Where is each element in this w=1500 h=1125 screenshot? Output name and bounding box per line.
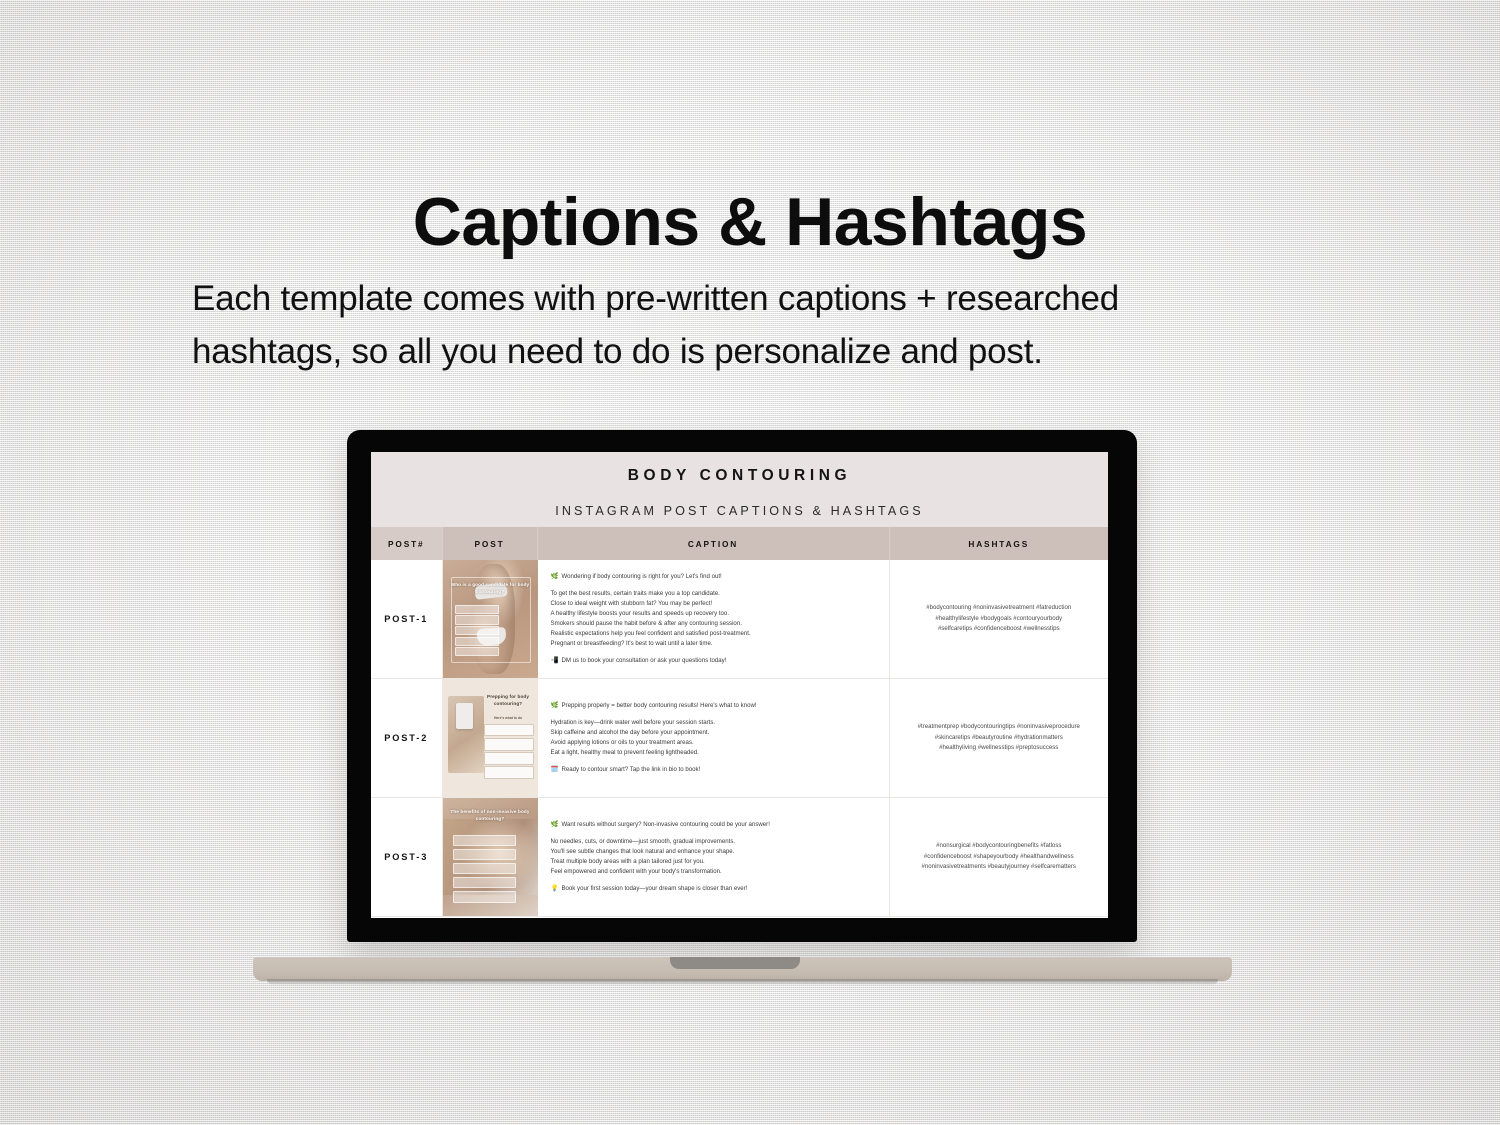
thumbnail-overlay-title: Prepping for body contouring? bbox=[482, 694, 533, 708]
caption-body: To get the best results, certain traits … bbox=[551, 589, 879, 648]
leaf-icon: 🌿 bbox=[551, 820, 559, 830]
caption-hook-text: Want results without surgery? Non-invasi… bbox=[561, 820, 769, 830]
caption-body-line: Hydration is key—drink water well before… bbox=[551, 718, 879, 728]
caption-body-line: Treat multiple body areas with a plan ta… bbox=[551, 857, 879, 867]
post-thumbnail-image: Who is a good candidate for body contour… bbox=[443, 560, 538, 678]
laptop-mockup: BODY CONTOURING INSTAGRAM POST CAPTIONS … bbox=[0, 0, 1500, 1125]
caption-body-line: Feel empowered and confident with your b… bbox=[551, 867, 879, 877]
laptop-screen: BODY CONTOURING INSTAGRAM POST CAPTIONS … bbox=[371, 452, 1108, 918]
post-number-cell: POST-2 bbox=[371, 679, 442, 798]
calendar-icon: 🗓️ bbox=[551, 765, 559, 775]
caption-body-line: Smokers should pause the habit before & … bbox=[551, 619, 879, 629]
column-header-post: POST bbox=[442, 527, 537, 560]
caption-body-line: A healthy lifestyle boosts your results … bbox=[551, 609, 879, 619]
caption-cta: 📲 DM us to book your consultation or ask… bbox=[551, 656, 879, 666]
caption-hook: 🌿 Prepping properly = better body contou… bbox=[551, 701, 879, 711]
page-title: Captions & Hashtags bbox=[0, 187, 1500, 258]
lightbulb-icon: 💡 bbox=[551, 884, 559, 894]
caption-body-line: Avoid applying lotions or oils to your t… bbox=[551, 738, 879, 748]
caption-cta: 🗓️ Ready to contour smart? Tap the link … bbox=[551, 765, 879, 775]
caption-body-line: Skip caffeine and alcohol the day before… bbox=[551, 728, 879, 738]
caption-cell: 🌿 Wondering if body contouring is right … bbox=[537, 560, 889, 679]
captions-hashtags-table: POST# POST CAPTION HASHTAGS POST-1 Who i… bbox=[371, 527, 1108, 917]
caption-body-line: Close to ideal weight with stubborn fat?… bbox=[551, 599, 879, 609]
caption-body: No needles, cuts, or downtime—just smoot… bbox=[551, 837, 879, 876]
laptop-base-shadow bbox=[267, 979, 1218, 985]
document-header: BODY CONTOURING INSTAGRAM POST CAPTIONS … bbox=[371, 452, 1108, 527]
caption-body: Hydration is key—drink water well before… bbox=[551, 718, 879, 757]
table-row: POST-1 Who is a good candidate for body … bbox=[371, 560, 1108, 679]
hashtags-cell: #nonsurgical #bodycontouringbenefits #fa… bbox=[889, 798, 1108, 917]
hashtag-line: #selfcaretips #confidenceboost #wellness… bbox=[896, 624, 1103, 634]
hashtags-cell: #treatmentprep #bodycontouringtips #noni… bbox=[889, 679, 1108, 798]
table-row: POST-2 Prepping for body contouring? Her… bbox=[371, 679, 1108, 798]
post-number-cell: POST-3 bbox=[371, 798, 442, 917]
caption-body-line: No needles, cuts, or downtime—just smoot… bbox=[551, 837, 879, 847]
document-title: BODY CONTOURING bbox=[371, 467, 1108, 485]
mobile-phone-icon: 📲 bbox=[551, 656, 559, 666]
post-thumbnail-image: The benefits of non-invasive body contou… bbox=[443, 798, 538, 916]
caption-hook: 🌿 Want results without surgery? Non-inva… bbox=[551, 820, 879, 830]
post-thumbnail-cell[interactable]: Who is a good candidate for body contour… bbox=[442, 560, 537, 679]
caption-cell: 🌿 Want results without surgery? Non-inva… bbox=[537, 798, 889, 917]
table-header-row: POST# POST CAPTION HASHTAGS bbox=[371, 527, 1108, 560]
post-thumbnail-cell[interactable]: The benefits of non-invasive body contou… bbox=[442, 798, 537, 917]
caption-body-line: Pregnant or breastfeeding? It's best to … bbox=[551, 639, 879, 649]
laptop-base-notch bbox=[670, 957, 800, 969]
table-row: POST-3 The benefits of non-invasive body… bbox=[371, 798, 1108, 917]
hashtag-line: #nonsurgical #bodycontouringbenefits #fa… bbox=[896, 841, 1103, 851]
post-thumbnail-cell[interactable]: Prepping for body contouring? Here's wha… bbox=[442, 679, 537, 798]
subtitle-line-1: Each template comes with pre-written cap… bbox=[192, 272, 1310, 325]
caption-body-line: Realistic expectations help you feel con… bbox=[551, 629, 879, 639]
hashtag-line: #confidenceboost #shapeyourbody #healtha… bbox=[896, 852, 1103, 862]
caption-body-line: To get the best results, certain traits … bbox=[551, 589, 879, 599]
leaf-icon: 🌿 bbox=[551, 701, 559, 711]
caption-hook-text: Prepping properly = better body contouri… bbox=[561, 701, 756, 711]
hashtag-line: #noninvasivetreatments #beautyjourney #s… bbox=[896, 862, 1103, 872]
hashtags-cell: #bodycontouring #noninvasivetreatment #f… bbox=[889, 560, 1108, 679]
page-subtitle: Each template comes with pre-written cap… bbox=[192, 272, 1310, 378]
hashtag-line: #healthyliving #wellnesstips #preptosucc… bbox=[896, 743, 1103, 753]
leaf-icon: 🌿 bbox=[551, 572, 559, 582]
post-thumbnail-image: Prepping for body contouring? Here's wha… bbox=[443, 679, 538, 797]
caption-cta-text: Book your first session today—your dream… bbox=[561, 884, 747, 894]
hashtag-line: #treatmentprep #bodycontouringtips #noni… bbox=[896, 722, 1103, 732]
post-number-cell: POST-1 bbox=[371, 560, 442, 679]
hashtag-line: #healthylifestyle #bodygoals #contouryou… bbox=[896, 614, 1103, 624]
caption-cta-text: DM us to book your consultation or ask y… bbox=[561, 656, 726, 666]
column-header-caption: CAPTION bbox=[537, 527, 889, 560]
caption-cell: 🌿 Prepping properly = better body contou… bbox=[537, 679, 889, 798]
thumbnail-overlay-title: Who is a good candidate for body contour… bbox=[448, 582, 532, 596]
hashtag-line: #skincaretips #beautyroutine #hydrationm… bbox=[896, 733, 1103, 743]
thumbnail-overlay-subtitle: Here's what to do bbox=[482, 716, 533, 720]
caption-hook-text: Wondering if body contouring is right fo… bbox=[561, 572, 721, 582]
hashtag-line: #bodycontouring #noninvasivetreatment #f… bbox=[896, 603, 1103, 613]
caption-hook: 🌿 Wondering if body contouring is right … bbox=[551, 572, 879, 582]
thumbnail-overlay-title: The benefits of non-invasive body contou… bbox=[448, 809, 532, 823]
column-header-post-number: POST# bbox=[371, 527, 442, 560]
subtitle-line-2: hashtags, so all you need to do is perso… bbox=[192, 325, 1310, 378]
caption-body-line: Eat a light, healthy meal to prevent fee… bbox=[551, 748, 879, 758]
caption-cta: 💡 Book your first session today—your dre… bbox=[551, 884, 879, 894]
column-header-hashtags: HASHTAGS bbox=[889, 527, 1108, 560]
caption-cta-text: Ready to contour smart? Tap the link in … bbox=[561, 765, 700, 775]
caption-body-line: You'll see subtle changes that look natu… bbox=[551, 847, 879, 857]
document-subtitle: INSTAGRAM POST CAPTIONS & HASHTAGS bbox=[371, 504, 1108, 518]
